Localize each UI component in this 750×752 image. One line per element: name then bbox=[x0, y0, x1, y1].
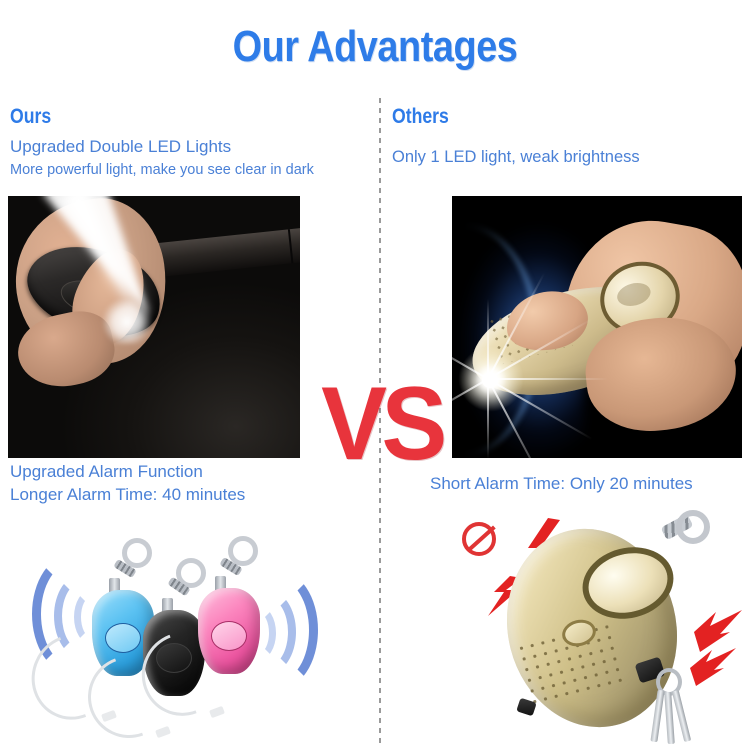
led-ray bbox=[487, 299, 489, 379]
page-title: Our Advantages bbox=[53, 22, 698, 72]
infographic-page: Our Advantages Ours Upgraded Double LED … bbox=[0, 0, 750, 750]
sound-bolt-icon bbox=[690, 610, 746, 652]
led-hotspot bbox=[100, 300, 154, 344]
alarm-button bbox=[105, 623, 141, 653]
prohibited-icon bbox=[462, 522, 496, 556]
ours-alarms-photo bbox=[10, 516, 340, 746]
others-feature-title: Only 1 LED light, weak brightness bbox=[392, 148, 640, 167]
ours-led-photo bbox=[8, 196, 300, 458]
others-led-photo bbox=[452, 196, 742, 458]
cord-plug bbox=[155, 726, 171, 738]
ours-caption-line1: Upgraded Alarm Function bbox=[10, 462, 203, 482]
cord-plug bbox=[209, 706, 225, 718]
keyring bbox=[676, 510, 710, 544]
vs-marker: VS bbox=[321, 372, 441, 476]
others-caption-line1: Short Alarm Time: Only 20 minutes bbox=[430, 474, 693, 494]
ours-caption-line2: Longer Alarm Time: 40 minutes bbox=[10, 485, 245, 505]
alarm-button bbox=[211, 621, 247, 651]
others-alarm-photo bbox=[440, 500, 750, 750]
key-icon bbox=[672, 690, 691, 742]
column-heading-others: Others bbox=[392, 105, 449, 129]
led-ray bbox=[487, 379, 489, 458]
ours-feature-subtitle: More powerful light, make you see clear … bbox=[10, 162, 314, 178]
led-core bbox=[482, 372, 498, 388]
ours-feature-title: Upgraded Double LED Lights bbox=[10, 137, 231, 157]
sound-bolt-icon bbox=[688, 648, 740, 686]
led-ray bbox=[488, 378, 608, 380]
column-heading-ours: Ours bbox=[10, 105, 51, 129]
